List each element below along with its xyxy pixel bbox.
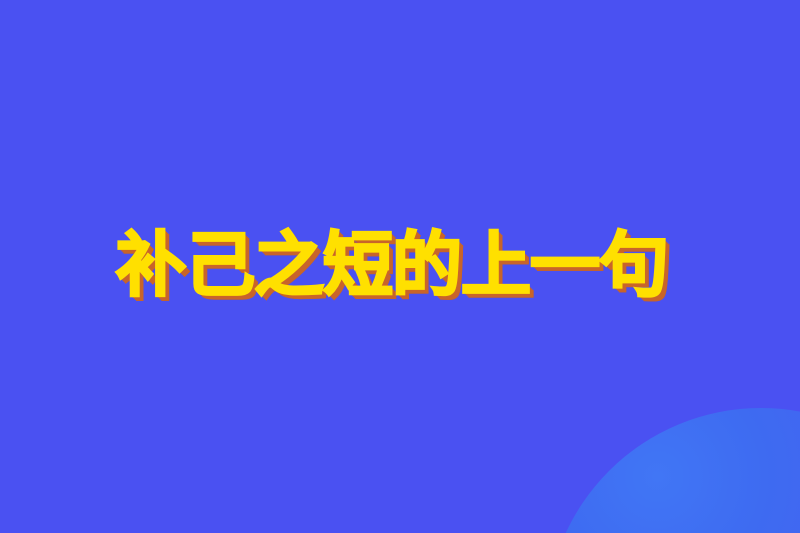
- headline-container: 补己之短的上一句: [0, 0, 800, 533]
- headline-text: 补己之短的上一句: [0, 230, 668, 300]
- poster-canvas: 补己之短的上一句: [0, 0, 800, 533]
